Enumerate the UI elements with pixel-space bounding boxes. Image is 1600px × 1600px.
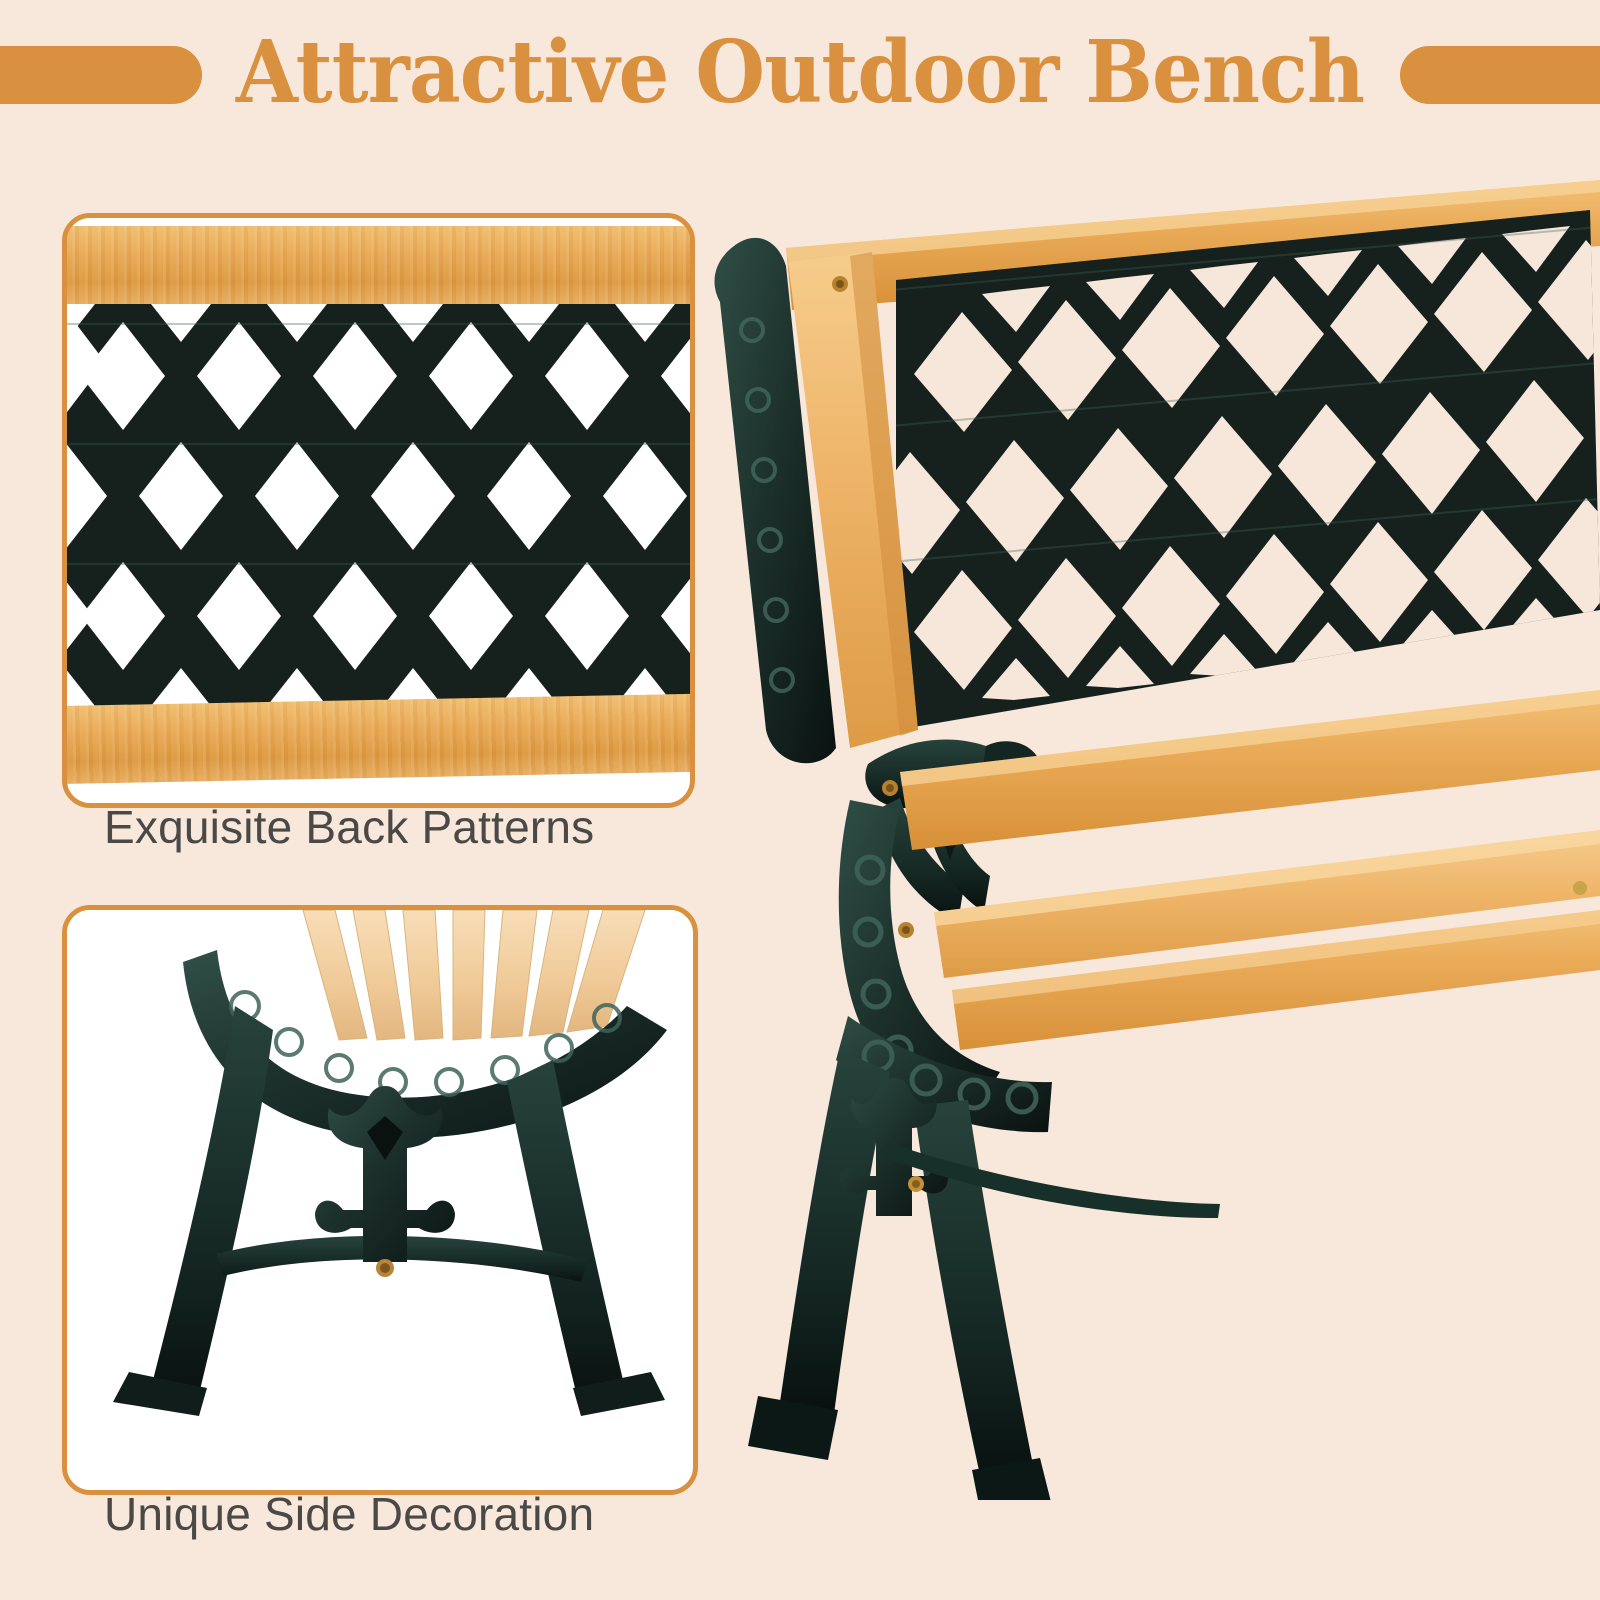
side-leg-svg xyxy=(67,910,683,1480)
page-title: Attractive Outdoor Bench xyxy=(56,18,1544,128)
back-bottom-wood-slat xyxy=(62,693,695,784)
caption-side-decoration: Unique Side Decoration xyxy=(62,1487,702,1541)
side-decoration-stage xyxy=(67,910,683,1480)
caption-back-patterns: Exquisite Back Patterns xyxy=(62,800,702,854)
main-product-image xyxy=(700,170,1600,1500)
back-top-wood-slat xyxy=(62,226,695,304)
lattice-svg xyxy=(62,304,695,706)
lattice-pattern-area xyxy=(62,304,695,706)
bench-svg xyxy=(700,170,1600,1500)
inset-panel-side-decoration xyxy=(62,905,698,1495)
inset-panel-back-patterns xyxy=(62,213,695,808)
page-header: Attractive Outdoor Bench xyxy=(0,0,1600,160)
